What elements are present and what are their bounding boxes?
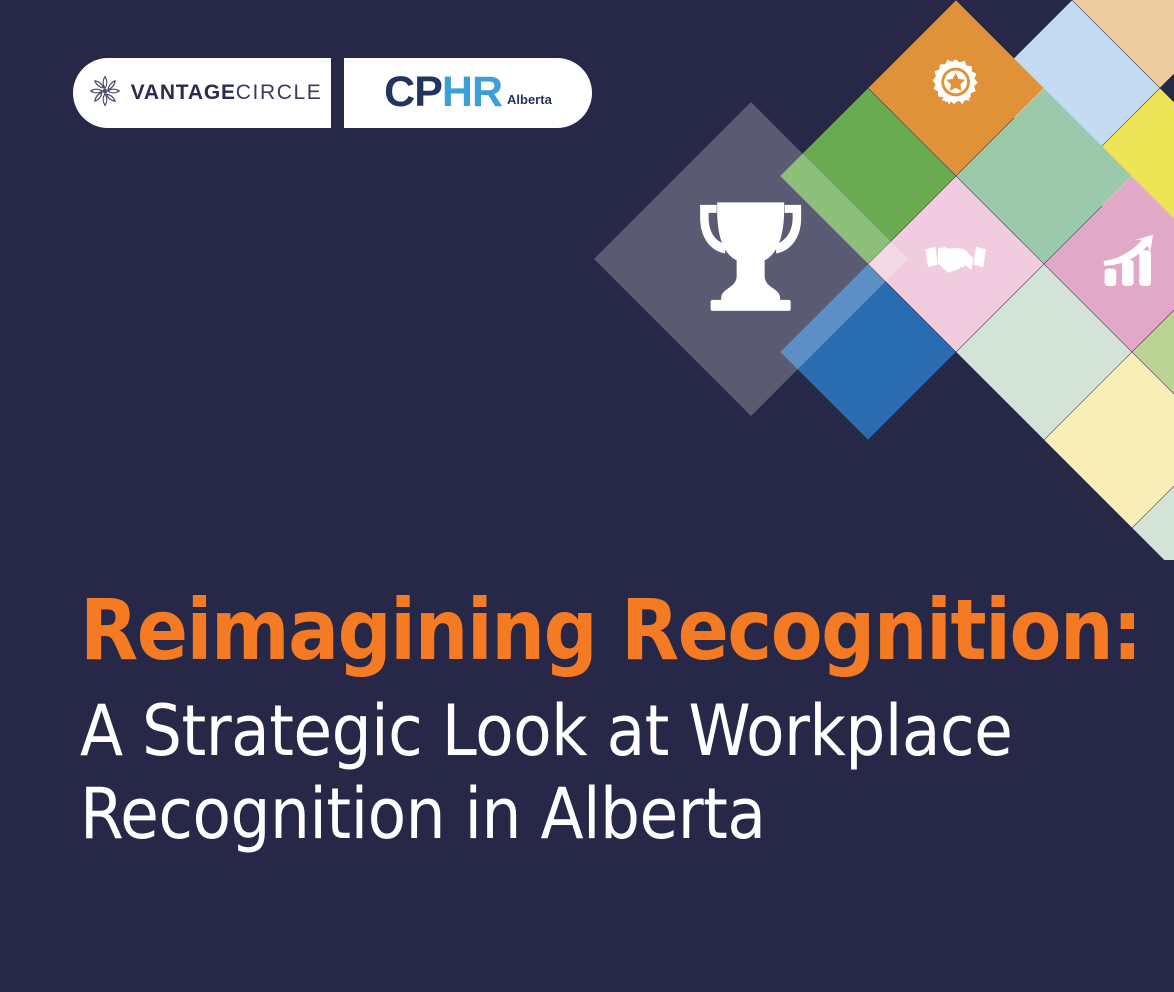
- cphr-wordmark: CPHR: [384, 73, 502, 113]
- mosaic-tile-lightblue: [984, 0, 1159, 175]
- page-subtitle-line-1: A Strategic Look at Workplace: [80, 690, 1100, 773]
- mosaic-tile-growth: [1044, 176, 1174, 351]
- mosaic-tile-yellow: [1072, 88, 1174, 263]
- vantage-word: VANTAGE: [131, 81, 236, 104]
- mosaic-tile-palegreen: [956, 264, 1131, 439]
- mosaic-tile-peach: [1072, 0, 1174, 88]
- mosaic-tile-green: [780, 88, 955, 263]
- cphr-alberta-logo[interactable]: CPHR Alberta: [344, 58, 592, 128]
- headline-block: Reimagining Recognition: A Strategic Loo…: [80, 588, 1100, 855]
- trophy-icon: [692, 197, 810, 322]
- vantage-circle-logo[interactable]: VANTAGECIRCLE: [73, 58, 331, 128]
- mosaic-tile-mint: [956, 88, 1131, 263]
- mosaic-tile-cream: [1044, 352, 1174, 527]
- handshake-icon: [924, 240, 988, 289]
- circle-word: CIRCLE: [236, 81, 323, 104]
- vantage-circle-wordmark: VANTAGECIRCLE: [131, 81, 323, 105]
- award-ribbon-icon: [925, 55, 987, 122]
- page-title: Reimagining Recognition:: [80, 588, 1100, 672]
- poster-canvas: VANTAGECIRCLE CPHR Alberta Reimagining R…: [0, 0, 1174, 992]
- mosaic-tile-trophy: [594, 102, 908, 416]
- cphr-region-label: Alberta: [507, 92, 552, 113]
- mosaic-tile-palegreen-2: [1132, 440, 1174, 560]
- mosaic-tile-blue: [780, 264, 955, 439]
- cphr-hr: HR: [442, 68, 502, 116]
- page-subtitle: A Strategic Look at Workplace Recognitio…: [80, 690, 1100, 855]
- mosaic-tile-olive: [1132, 264, 1174, 439]
- mosaic-tile-handshake: [868, 176, 1043, 351]
- growth-chart-icon: [1103, 234, 1161, 295]
- starburst-flower-icon: [88, 74, 122, 113]
- mosaic-tile-award: [868, 0, 1043, 175]
- logo-bar: VANTAGECIRCLE CPHR Alberta: [73, 58, 592, 128]
- page-subtitle-line-2: Recognition in Alberta: [80, 773, 1100, 856]
- cphr-cp: CP: [384, 68, 442, 116]
